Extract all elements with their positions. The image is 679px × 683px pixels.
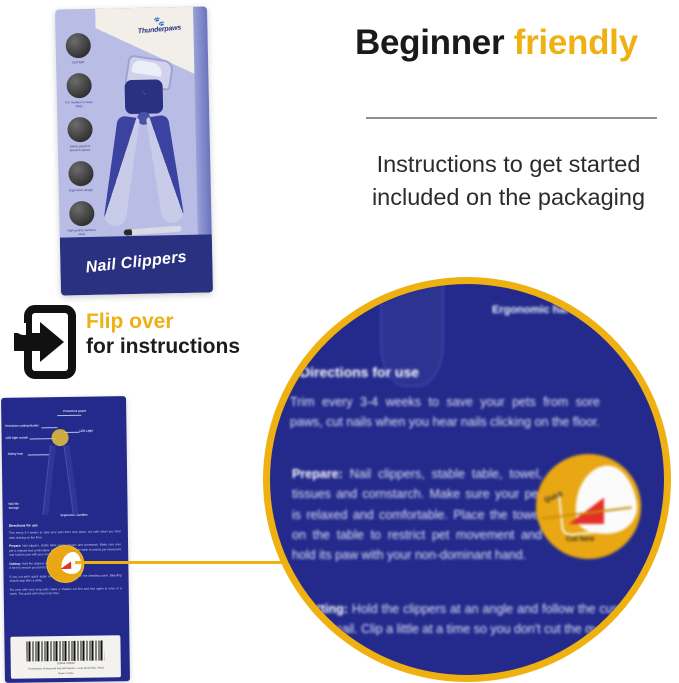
brand-logo: 🐾 Thunderpaws bbox=[129, 17, 190, 54]
clipper-diagram-art bbox=[39, 429, 84, 518]
barcode-number: 123456 789012 bbox=[11, 661, 121, 666]
cut-here-label: Cut here bbox=[566, 536, 594, 543]
headline-part-1: Beginner bbox=[355, 23, 504, 62]
product-title: Nail Clippers bbox=[60, 246, 213, 280]
barcode-caption: Thunderpaws Professional Dog Nail Clippe… bbox=[11, 666, 121, 671]
box-body: 🐾 Thunderpaws LED light For medium to la… bbox=[55, 6, 213, 295]
subheading-line-1: Instructions to get started bbox=[346, 148, 671, 181]
feature-item: High quality stainless steel bbox=[65, 201, 98, 237]
flip-over-callout: Flip over for instructions bbox=[14, 303, 254, 381]
large-dog-icon bbox=[66, 73, 92, 99]
magnified-detail-circle: Ergonomic handles Directions for use Tri… bbox=[263, 277, 671, 682]
phone-flip-arrow-icon bbox=[14, 305, 76, 379]
page-title: Beginner friendly bbox=[355, 24, 665, 63]
feature-label: For medium to large dogs bbox=[64, 100, 95, 108]
magnified-prepare-text: Nail clippers, stable table, towel, tiss… bbox=[292, 467, 542, 562]
magnified-prepare: Prepare: Nail clippers, stable table, to… bbox=[292, 464, 542, 565]
feature-item: Ergonomic design bbox=[64, 161, 97, 193]
magnifier-ring: Ergonomic handles Directions for use Tri… bbox=[263, 277, 671, 682]
diagram-label: Safety lock bbox=[8, 452, 23, 456]
origin-label: Made in China bbox=[11, 672, 121, 677]
stainless-steel-icon bbox=[69, 201, 95, 227]
magnified-cutting: Cutting: Hold the clippers at an angle a… bbox=[300, 599, 630, 640]
feature-icon-column: LED light For medium to large dogs Safet… bbox=[62, 33, 98, 246]
product-box-front: 🐾 Thunderpaws LED light For medium to la… bbox=[55, 6, 213, 295]
clipper-parts-diagram: Protective guard Precision cutting blade… bbox=[1, 402, 128, 524]
instructions-extra-2: For pets with very long nails make a sha… bbox=[10, 586, 122, 597]
feature-item: Safety guard to prevent injuries bbox=[63, 117, 96, 153]
nail-clipper-illustration: 🐾 bbox=[102, 55, 202, 237]
magnified-cutting-label: Cutting: bbox=[300, 602, 348, 616]
safety-guard-icon bbox=[67, 117, 93, 143]
led-light-icon bbox=[65, 33, 91, 59]
hub-logo: 🐾 bbox=[125, 90, 163, 96]
instructions-heading: Directions for use bbox=[9, 522, 121, 528]
flip-over-line-2: for instructions bbox=[86, 334, 240, 359]
diagram-label: LED light switch bbox=[6, 436, 29, 440]
nail-anatomy-diagram: Quick Cut here bbox=[536, 454, 641, 559]
feature-label: LED light bbox=[63, 60, 93, 64]
clipper-handle-right bbox=[146, 114, 185, 224]
headline-divider bbox=[366, 117, 657, 119]
headline-block: Beginner friendly bbox=[355, 24, 665, 63]
back-panel-body: Protective guard Precision cutting blade… bbox=[1, 396, 130, 683]
box-footer: Nail Clippers bbox=[60, 234, 213, 295]
ergonomic-handles-label: Ergonomic handles bbox=[492, 304, 594, 316]
diagram-label: Nail file storage bbox=[8, 502, 28, 510]
flip-over-line-1: Flip over bbox=[86, 309, 240, 334]
feature-item: LED light bbox=[62, 33, 95, 65]
arrow-head bbox=[40, 322, 64, 362]
subheading: Instructions to get started included on … bbox=[346, 148, 671, 215]
feature-label: High quality stainless steel bbox=[66, 228, 97, 236]
magnified-prepare-label: Prepare: bbox=[292, 467, 343, 481]
magnifier-content: Ergonomic handles Directions for use Tri… bbox=[270, 284, 664, 675]
flip-over-text: Flip over for instructions bbox=[86, 309, 240, 359]
magnified-intro: Trim every 3-4 weeks to save your pets f… bbox=[290, 392, 600, 433]
feature-label: Ergonomic design bbox=[66, 188, 96, 192]
product-box-back-panel: Protective guard Precision cutting blade… bbox=[1, 396, 130, 683]
magnifier-connector-line bbox=[75, 561, 290, 564]
clipper-arm-left bbox=[42, 445, 56, 515]
clipper-head-shape bbox=[51, 429, 68, 446]
clipper-arm-right bbox=[63, 445, 78, 515]
magnified-cutting-text: Hold the clippers at an angle and follow… bbox=[300, 602, 630, 636]
clipper-handle-left bbox=[103, 115, 140, 227]
diagram-label: Protective guard bbox=[63, 409, 86, 413]
ergonomic-hand-icon bbox=[68, 161, 94, 187]
feature-label: Safety guard to prevent injuries bbox=[65, 144, 96, 152]
barcode-icon bbox=[26, 640, 104, 661]
feature-item: For medium to large dogs bbox=[62, 73, 95, 109]
diagram-label: Precision cutting blades bbox=[5, 423, 38, 427]
subheading-line-2: included on the packaging bbox=[346, 181, 671, 214]
magnified-heading: Directions for use bbox=[300, 364, 419, 380]
headline-part-2: friendly bbox=[514, 23, 638, 62]
barcode-block: 123456 789012 Thunderpaws Professional D… bbox=[10, 635, 121, 679]
instructions-intro: Trim every 3-4 weeks to save your pets f… bbox=[9, 529, 121, 540]
clipper-hub: 🐾 bbox=[125, 79, 164, 114]
